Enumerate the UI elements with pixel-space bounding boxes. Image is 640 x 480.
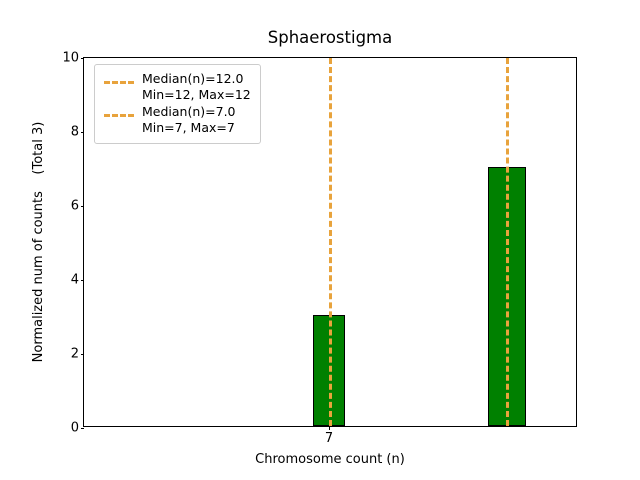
matplotlib-figure: Sphaerostigma 0 2 4 6 [0,0,640,480]
ytick-label: 8 [71,126,79,139]
ytick-label: 4 [71,274,79,287]
plot-axes: 0 2 4 6 8 10 [83,57,577,427]
ytick-label: 6 [71,200,79,213]
legend-label-median-12: Median(n)=12.0Min=12, Max=12 [142,71,251,103]
ytick-mark [81,132,85,133]
xtick-mark [329,426,330,430]
xtick-label: 7 [325,432,333,446]
ytick-mark [81,58,85,59]
ytick-label: 10 [62,52,79,65]
legend-line2: Min=12, Max=12 [142,87,251,102]
legend-line2: Min=7, Max=7 [142,120,235,135]
ytick-label: 0 [71,422,79,435]
legend-line1: Median(n)=12.0 [142,71,243,86]
ytick-label: 2 [71,348,79,361]
median-line-7 [329,58,332,426]
ytick-mark [81,280,85,281]
legend-label-median-7: Median(n)=7.0Min=7, Max=7 [142,104,236,136]
dashed-line-icon [104,107,134,120]
legend-line1: Median(n)=7.0 [142,104,236,119]
ytick-mark [81,354,85,355]
legend-entry-median-12[interactable]: Median(n)=12.0Min=12, Max=12 [104,71,251,103]
y-axis-label: Normalized num of counts (Total 3) [26,57,52,427]
chart-title: Sphaerostigma [83,28,577,48]
median-line-12 [506,58,509,426]
legend-entry-median-7[interactable]: Median(n)=7.0Min=7, Max=7 [104,104,251,136]
ytick-mark [81,428,85,429]
x-axis-label: Chromosome count (n) [83,452,577,467]
ytick-mark [81,206,85,207]
legend[interactable]: Median(n)=12.0Min=12, Max=12 Median(n)=7… [94,64,261,144]
dashed-line-icon [104,74,134,87]
